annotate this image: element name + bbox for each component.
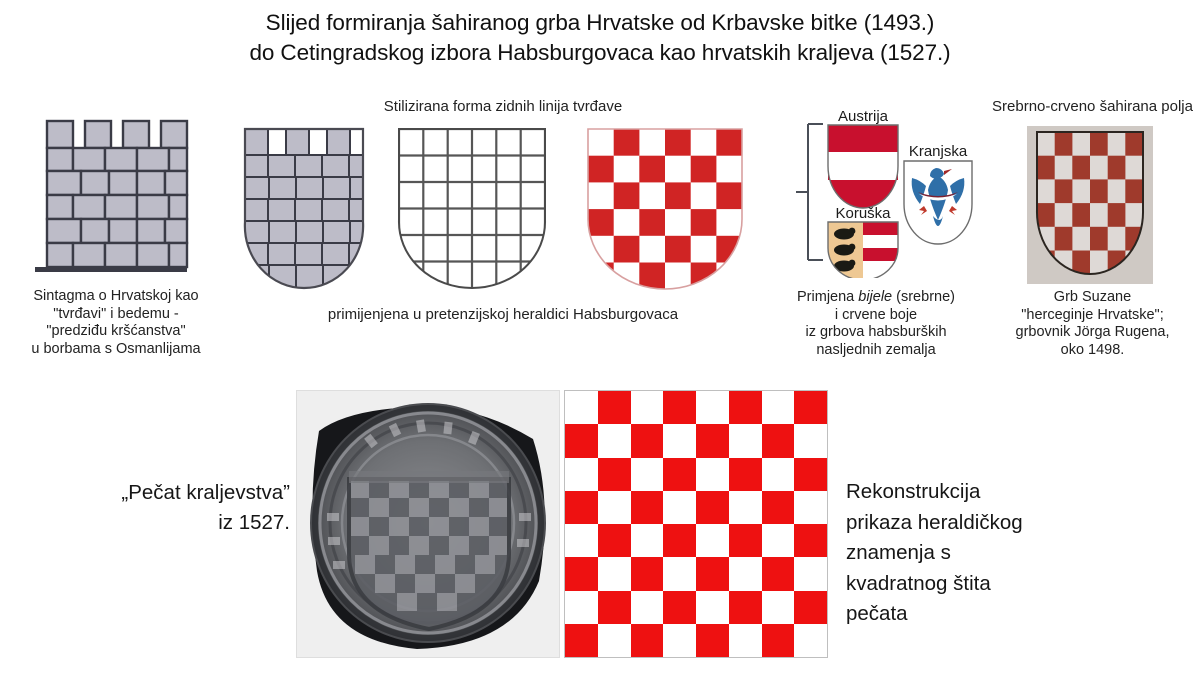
checker-cell [696,624,729,657]
checker-cell [631,591,664,624]
checker-cell [663,524,696,557]
checker-cell [729,624,762,657]
checker-cell [663,458,696,491]
label-austrija: Austrija [838,108,889,125]
stylised-headline: Stilizirana forma zidnih linija tvrđave [243,97,763,116]
checker-cell [762,424,795,457]
checker-cell [794,424,827,457]
suzana-headline: Srebrno-crveno šahirana polja [985,97,1200,116]
checker-cell [598,591,631,624]
checker-cell [663,424,696,457]
checker-cell [565,524,598,557]
grid-shield-diagram [396,126,548,291]
checker-cell [631,524,664,557]
stylised-caption: primijenjena u pretenzijskoj heraldici H… [243,306,763,324]
checker-cell [565,491,598,524]
royal-seal-photo [296,390,560,658]
suzana-caption-line-1: Grb Suzane [985,289,1200,307]
habsburg-caption-line-3: iz grbova habsburških [768,324,984,342]
checker-cell [696,524,729,557]
page-title-line-2: do Cetingradskog izbora Habsburgovaca ka… [0,38,1200,68]
checker-cell [598,458,631,491]
checker-cell [631,624,664,657]
seal-label: „Pečat kraljevstva” iz 1527. [60,478,290,538]
checker-cell [794,391,827,424]
checker-cell [598,557,631,590]
reconstructed-checkerboard [564,390,828,658]
masonry-shield-diagram [243,127,365,290]
label-koruska: Koruška [835,205,891,222]
checker-cell [598,424,631,457]
reconstruction-line-1: Rekonstrukcija [846,477,1106,508]
checker-cell [696,424,729,457]
wall-caption-line-1: Sintagma o Hrvatskoj kao [0,288,232,306]
checker-cell [762,624,795,657]
checker-cell [565,391,598,424]
checker-cell [794,591,827,624]
checker-cell [762,391,795,424]
checker-cell [631,391,664,424]
reconstruction-line-5: pečata [846,599,1106,630]
checker-cell [631,557,664,590]
habsburg-caption-line-2: i crvene boje [768,307,984,325]
wall-caption-line-4: u borbama s Osmanlijama [0,341,232,359]
checker-cell [598,624,631,657]
checker-cell [565,458,598,491]
checker-cell [663,557,696,590]
habsburg-caption-line-1a: Primjena [797,289,858,305]
habsburg-caption: Primjena bijele (srebrne) i crvene boje … [768,289,984,359]
checker-cell [729,458,762,491]
checker-cell [696,557,729,590]
checker-cell [631,424,664,457]
habsburg-lands-diagram: Austrija Koruška Kranjska [778,108,978,278]
habsburg-caption-line-1: Primjena bijele (srebrne) [768,289,984,307]
checker-cell [762,458,795,491]
checker-cell [729,557,762,590]
checker-cell [794,491,827,524]
checker-cell [631,491,664,524]
checker-cell [598,491,631,524]
page-title-line-1: Slijed formiranja šahiranog grba Hrvatsk… [0,8,1200,38]
checker-cell [565,624,598,657]
suzana-caption-line-3: grbovnik Jörga Rugena, [985,324,1200,342]
suzana-caption-line-4: oko 1498. [985,342,1200,360]
checker-cell [696,391,729,424]
checky-shield-diagram [585,126,745,292]
suzana-coat-of-arms [1027,126,1153,284]
checker-cell [696,591,729,624]
reconstruction-label: Rekonstrukcija prikaza heraldičkog zname… [846,477,1106,630]
checker-cell [762,524,795,557]
habsburg-caption-emphasis: bijele [858,289,892,305]
reconstruction-line-3: znamenja s [846,538,1106,569]
habsburg-caption-line-1c: (srebrne) [892,289,955,305]
checker-cell [565,591,598,624]
checker-cell [794,624,827,657]
suzana-caption: Grb Suzane "herceginje Hrvatske"; grbovn… [985,289,1200,359]
checker-cell [729,591,762,624]
checker-cell [729,424,762,457]
checker-cell [794,524,827,557]
label-kranjska: Kranjska [909,143,968,160]
checker-cell [565,557,598,590]
reconstruction-line-2: prikaza heraldičkog [846,508,1106,539]
checker-cell [762,557,795,590]
checker-cell [696,458,729,491]
fortress-wall-diagram [30,118,192,288]
wall-caption-line-2: "tvrđavi" i bedemu - [0,306,232,324]
checker-cell [762,591,795,624]
checker-cell [663,624,696,657]
checker-cell [729,524,762,557]
checker-cell [729,491,762,524]
wall-caption-line-3: "predziđu kršćanstva" [0,323,232,341]
wall-caption: Sintagma o Hrvatskoj kao "tvrđavi" i bed… [0,288,232,358]
checker-cell [729,391,762,424]
checker-cell [598,391,631,424]
checker-cell [565,424,598,457]
checker-cell [663,391,696,424]
reconstruction-line-4: kvadratnog štita [846,569,1106,600]
seal-label-line-1: „Pečat kraljevstva” [60,478,290,508]
checker-cell [663,591,696,624]
suzana-caption-line-2: "herceginje Hrvatske"; [985,307,1200,325]
page-title: Slijed formiranja šahiranog grba Hrvatsk… [0,8,1200,68]
checker-cell [794,557,827,590]
seal-label-line-2: iz 1527. [60,508,290,538]
habsburg-caption-line-4: nasljednih zemalja [768,342,984,360]
checker-cell [631,458,664,491]
checker-cell [762,491,795,524]
checker-cell [794,458,827,491]
checker-cell [696,491,729,524]
checker-cell [663,491,696,524]
checker-cell [598,524,631,557]
